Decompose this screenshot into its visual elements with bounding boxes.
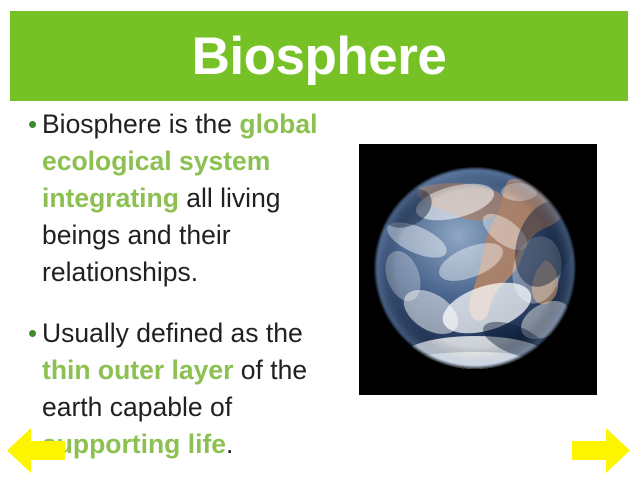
previous-slide-button[interactable] [7,427,65,474]
list-item: • Usually defined as the thin outer laye… [28,315,348,463]
slide-body: • Biosphere is the global ecological sys… [28,106,348,479]
bullet-marker-icon: • [28,106,42,143]
arrow-left-icon [7,427,65,474]
presentation-slide: Biosphere • Biosphere is the global ecol… [0,0,638,479]
bullet-text: Usually defined as the thin outer layer … [42,315,348,463]
bullet-segment-highlight: thin outer layer [42,355,233,385]
bullet-marker-icon: • [28,315,42,352]
earth-blue-marble-photo [359,144,597,395]
next-slide-button[interactable] [572,427,630,474]
slide-title-banner: Biosphere [10,11,628,101]
page-title: Biosphere [192,30,447,83]
bullet-segment: Usually defined as the [42,318,303,348]
bullet-segment: Biosphere is the [42,109,239,139]
arrow-right-icon [572,427,630,474]
list-item: • Biosphere is the global ecological sys… [28,106,348,291]
bullet-segment-highlight: supporting life [42,429,226,459]
earth-globe-icon [359,144,597,395]
bullet-segment: . [226,429,233,459]
bullet-text: Biosphere is the global ecological syste… [42,106,348,291]
